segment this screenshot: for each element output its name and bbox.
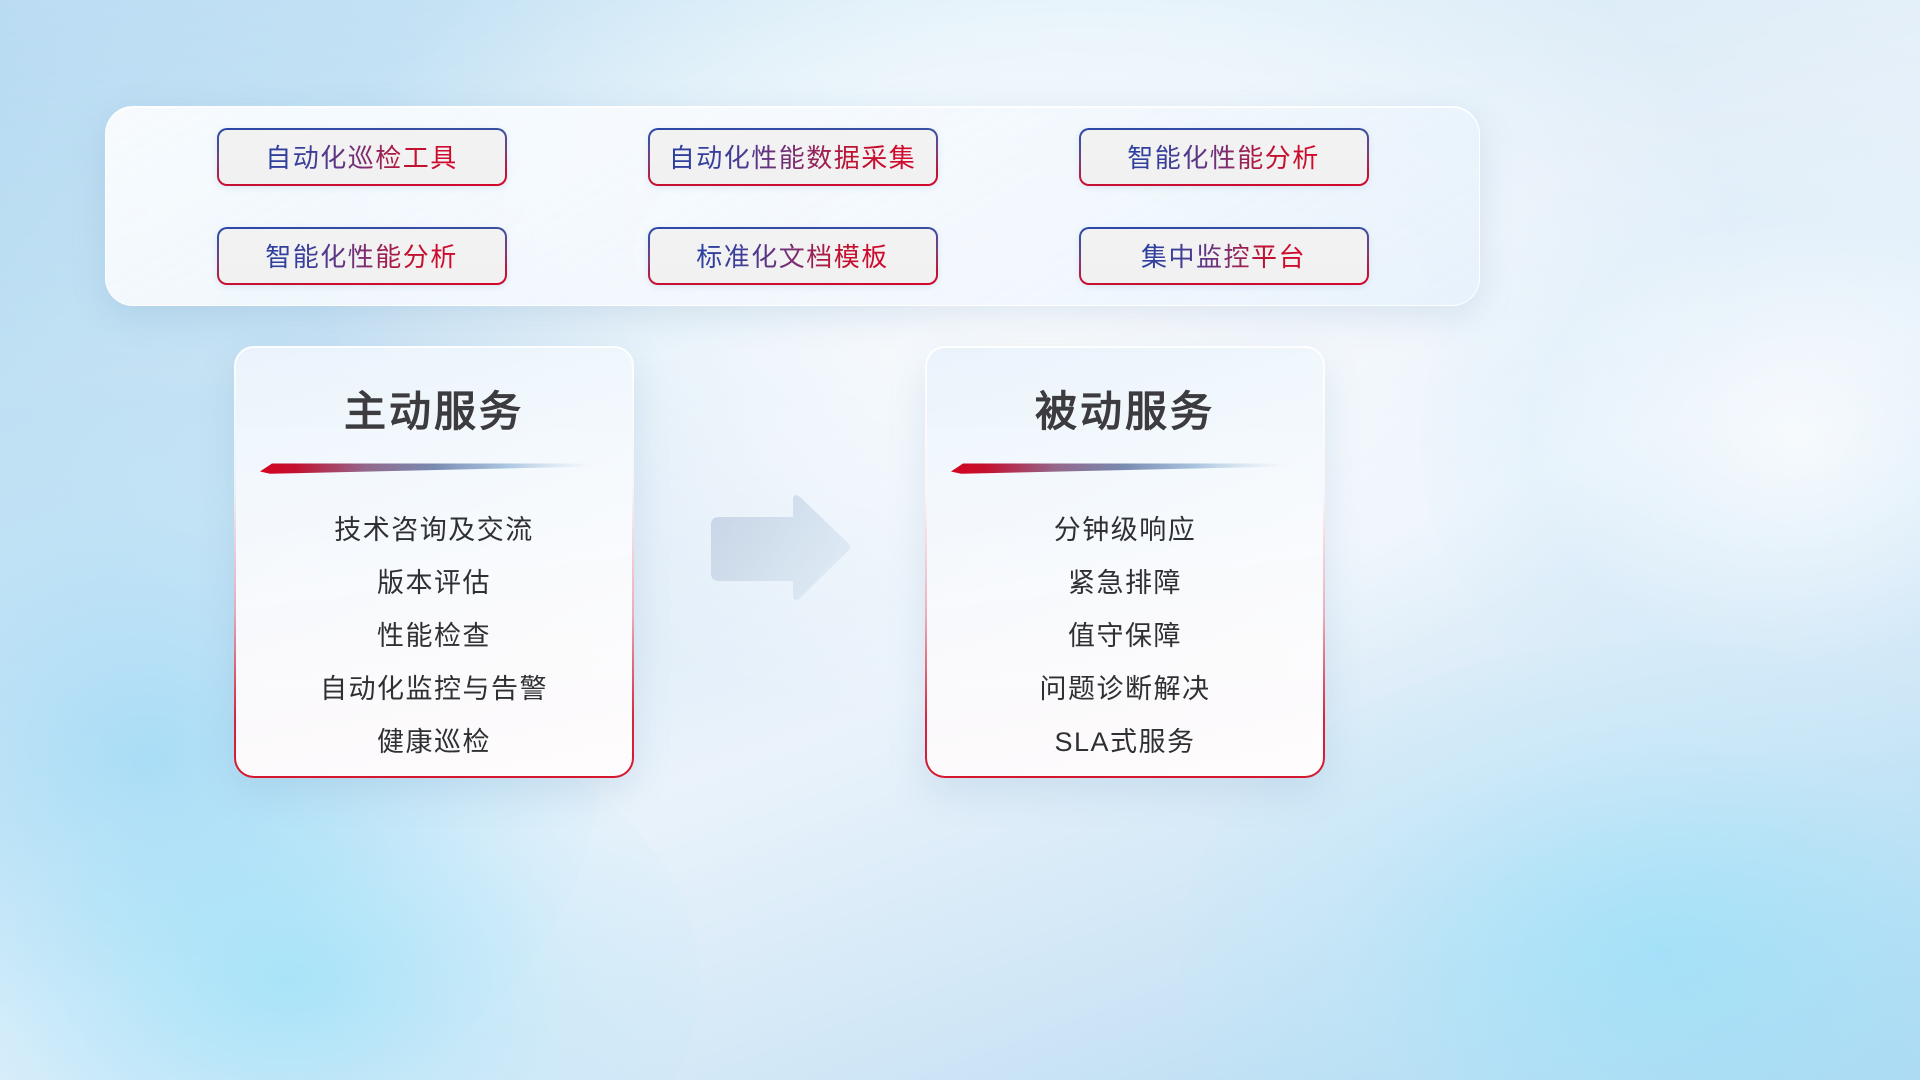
capability-pill-1[interactable]: 自动化巡检工具 xyxy=(217,128,507,186)
card-title-reactive: 被动服务 xyxy=(927,378,1323,439)
arrow-right-icon xyxy=(705,492,855,607)
capability-pill-3[interactable]: 智能化性能分析 xyxy=(1079,128,1369,186)
background-glow-right xyxy=(1420,120,1920,760)
diagram-canvas: 自动化巡检工具 自动化性能数据采集 智能化性能分析 智能化性能分析 标准化文档模… xyxy=(0,0,1920,1080)
capability-pill-label: 自动化性能数据采集 xyxy=(669,138,917,175)
capability-pill-5[interactable]: 标准化文档模板 xyxy=(648,227,938,285)
service-list-reactive: 分钟级响应 紧急排障 值守保障 问题诊断解决 SLA式服务 xyxy=(927,504,1323,769)
card-divider-reactive xyxy=(951,461,1299,474)
list-item: SLA式服务 xyxy=(927,716,1323,769)
service-card-reactive: 被动服务 分钟级响应 紧急排障 xyxy=(925,346,1325,778)
capability-pill-label: 标准化文档模板 xyxy=(696,237,889,274)
capability-grid: 自动化巡检工具 自动化性能数据采集 智能化性能分析 智能化性能分析 标准化文档模… xyxy=(106,107,1479,305)
card-divider-proactive xyxy=(260,461,608,474)
list-item: 技术咨询及交流 xyxy=(236,504,632,557)
list-item: 紧急排障 xyxy=(927,557,1323,610)
service-list-proactive: 技术咨询及交流 版本评估 性能检查 自动化监控与告警 健康巡检 xyxy=(236,504,632,769)
capability-panel: 自动化巡检工具 自动化性能数据采集 智能化性能分析 智能化性能分析 标准化文档模… xyxy=(105,106,1480,306)
capability-pill-6[interactable]: 集中监控平台 xyxy=(1079,227,1369,285)
capability-pill-label: 智能化性能分析 xyxy=(1127,138,1320,175)
list-item: 性能检查 xyxy=(236,610,632,663)
service-card-proactive: 主动服务 技术咨询及交流 版本评估 xyxy=(234,346,634,778)
capability-pill-label: 自动化巡检工具 xyxy=(265,138,458,175)
list-item: 健康巡检 xyxy=(236,716,632,769)
capability-pill-2[interactable]: 自动化性能数据采集 xyxy=(648,128,938,186)
list-item: 分钟级响应 xyxy=(927,504,1323,557)
list-item: 版本评估 xyxy=(236,557,632,610)
list-item: 问题诊断解决 xyxy=(927,663,1323,716)
list-item: 值守保障 xyxy=(927,610,1323,663)
capability-pill-4[interactable]: 智能化性能分析 xyxy=(217,227,507,285)
capability-pill-label: 智能化性能分析 xyxy=(265,237,458,274)
capability-pill-label: 集中监控平台 xyxy=(1141,237,1306,274)
card-title-proactive: 主动服务 xyxy=(236,378,632,439)
list-item: 自动化监控与告警 xyxy=(236,663,632,716)
